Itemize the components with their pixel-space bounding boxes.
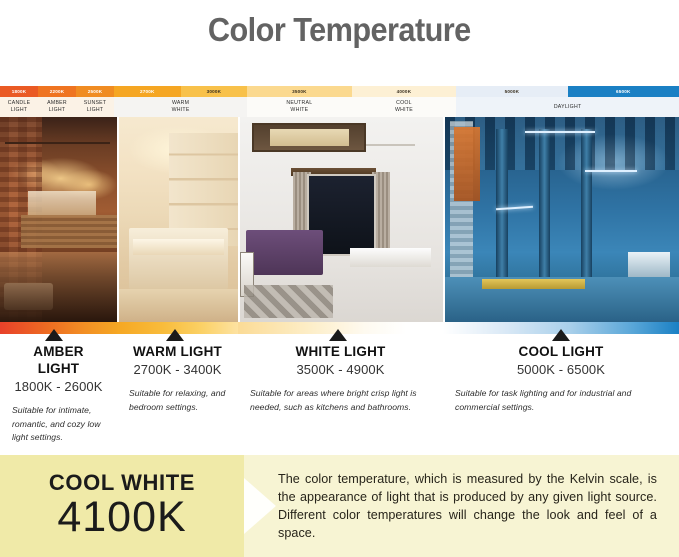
kelvin-name-segment: WARMWHITE [114, 97, 247, 117]
summary-text-block: The color temperature, which is measured… [244, 455, 679, 557]
caption-description: Suitable for task lighting and for indus… [455, 387, 667, 414]
cool-light-warehouse-photo [443, 117, 679, 322]
caption-title: WARM LIGHT [129, 344, 226, 361]
caption-title: AMBER LIGHT [12, 344, 105, 378]
kelvin-name-line: SUNSET [84, 100, 107, 107]
caption-kelvin-range: 1800K - 2600K [12, 378, 105, 396]
kelvin-name-row: CANDLELIGHTAMBERLIGHTSUNSETLIGHTWARMWHIT… [0, 97, 679, 117]
caption-block: COOL LIGHT5000K - 6500KSuitable for task… [443, 344, 679, 434]
kelvin-name-segment: COOLWHITE [352, 97, 457, 117]
photo-detail [581, 129, 593, 289]
photo-detail [4, 283, 53, 310]
gradient-bar [238, 322, 443, 334]
kelvin-segment: 2200K [38, 86, 76, 97]
kelvin-name-segment: SUNSETLIGHT [76, 97, 114, 117]
caption-block: WARM LIGHT2700K - 3400KSuitable for rela… [117, 344, 238, 434]
kelvin-segment: 1800K [0, 86, 38, 97]
kelvin-name-line: AMBER [47, 100, 67, 107]
kelvin-segment: 2700K [114, 86, 181, 97]
gradient-bar [117, 322, 238, 334]
photo-detail [525, 131, 595, 133]
photo-detail [539, 129, 551, 289]
caption-kelvin-range: 2700K - 3400K [129, 361, 226, 379]
kelvin-name-segment: DAYLIGHT [456, 97, 679, 117]
kelvin-name-segment: NEUTRALWHITE [247, 97, 352, 117]
range-marker-triangle-icon [166, 329, 184, 341]
kelvin-name-line: WHITE [395, 107, 413, 114]
photo-detail [5, 142, 110, 144]
caption-description: Suitable for intimate, romantic, and coz… [12, 404, 105, 444]
kelvin-name-line: LIGHT [87, 107, 104, 114]
kelvin-name-segment: CANDLELIGHT [0, 97, 38, 117]
photo-detail [21, 215, 117, 248]
gradient-bar [0, 322, 117, 334]
kelvin-name-line: DAYLIGHT [554, 104, 582, 111]
range-marker-triangle-icon [552, 329, 570, 341]
caption-description: Suitable for areas where bright crisp li… [250, 387, 431, 414]
photo-detail [445, 117, 679, 170]
warm-light-livingroom-photo [117, 117, 238, 322]
caption-block: AMBER LIGHT1800K - 2600KSuitable for int… [0, 344, 117, 434]
caption-row: AMBER LIGHT1800K - 2600KSuitable for int… [0, 344, 679, 434]
kelvin-name-line: CANDLE [8, 100, 31, 107]
kelvin-name-line: WARM [172, 100, 189, 107]
kelvin-name-line: COOL [396, 100, 412, 107]
photo-detail [454, 127, 480, 201]
range-marker-triangle-icon [45, 329, 63, 341]
caption-kelvin-range: 3500K - 4900K [250, 361, 431, 379]
kelvin-segment: 2500K [76, 86, 114, 97]
kelvin-segment: 6500K [568, 86, 679, 97]
kelvin-name-line: LIGHT [11, 107, 28, 114]
summary-value-block: COOL WHITE 4100K [0, 455, 244, 557]
photo-detail [350, 248, 431, 266]
photo-detail [28, 191, 96, 218]
page-title: Color Temperature [208, 11, 471, 49]
photo-detail [129, 228, 229, 290]
gradient-bar [443, 322, 679, 334]
kelvin-segment: 3500K [247, 86, 352, 97]
photo-row [0, 117, 679, 322]
caption-description: Suitable for relaxing, and bedroom setti… [129, 387, 226, 414]
caption-title: COOL LIGHT [455, 344, 667, 361]
photo-detail [585, 170, 636, 172]
kelvin-name-line: NEUTRAL [286, 100, 312, 107]
photo-detail [362, 144, 415, 146]
photo-detail [252, 123, 366, 152]
kelvin-segment: 4000K [352, 86, 457, 97]
white-light-diningroom-photo [238, 117, 443, 322]
kelvin-value-row: 1800K2200K2500K2700K3000K3500K4000K5000K… [0, 86, 679, 97]
page-title-region: Color Temperature [0, 0, 679, 60]
photo-detail [244, 285, 333, 318]
caption-block: WHITE LIGHT3500K - 4900KSuitable for are… [238, 344, 443, 434]
photo-detail [246, 230, 323, 275]
photo-detail [119, 289, 238, 322]
kelvin-segment: 5000K [456, 86, 567, 97]
range-marker-triangle-icon [329, 329, 347, 341]
photo-detail [628, 252, 670, 277]
kelvin-scale: 1800K2200K2500K2700K3000K3500K4000K5000K… [0, 86, 679, 117]
summary-value: 4100K [57, 496, 186, 540]
photo-detail [482, 279, 585, 289]
kelvin-name-line: WHITE [290, 107, 308, 114]
summary-body-text: The color temperature, which is measured… [278, 470, 657, 543]
kelvin-segment: 3000K [181, 86, 248, 97]
amber-light-cafe-photo [0, 117, 117, 322]
summary-label: COOL WHITE [49, 472, 195, 494]
kelvin-name-segment: AMBERLIGHT [38, 97, 76, 117]
caption-title: WHITE LIGHT [250, 344, 431, 361]
kelvin-name-line: WHITE [172, 107, 190, 114]
summary-panel: COOL WHITE 4100K The color temperature, … [0, 455, 679, 557]
caption-kelvin-range: 5000K - 6500K [455, 361, 667, 379]
gradient-bar-row [0, 322, 679, 340]
kelvin-name-line: LIGHT [49, 107, 66, 114]
color-temperature-infographic: Color Temperature 1800K2200K2500K2700K30… [0, 0, 679, 557]
